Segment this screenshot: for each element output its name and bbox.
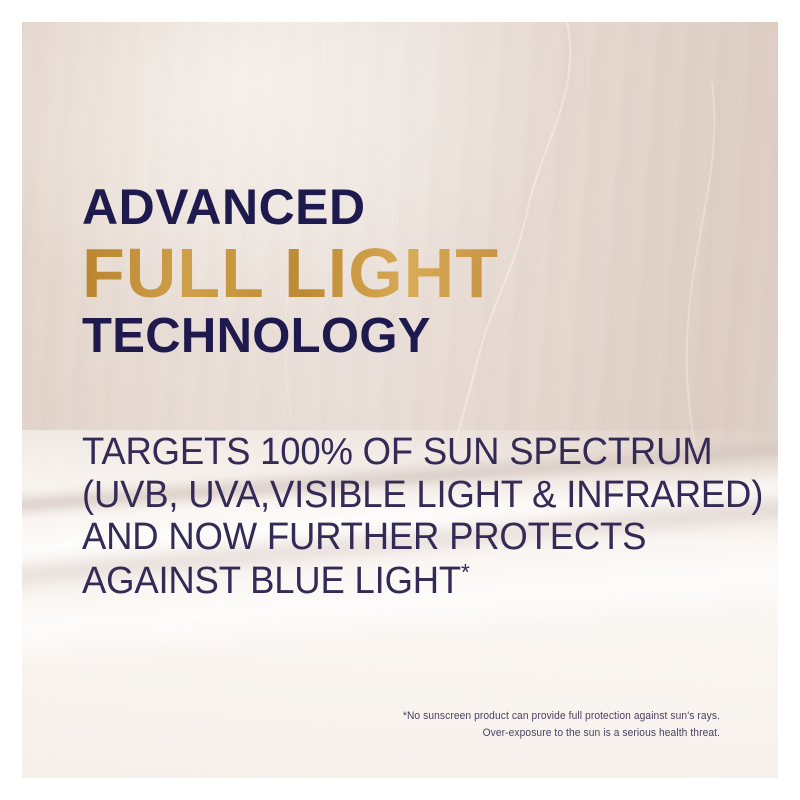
legal-footnote-line-1: *No sunscreen product can provide full p… bbox=[403, 708, 720, 725]
headline-line-technology: TECHNOLOGY bbox=[82, 312, 738, 361]
product-claim-panel: ADVANCED FULL LIGHT TECHNOLOGY TARGETS 1… bbox=[22, 22, 778, 778]
body-copy: TARGETS 100% OF SUN SPECTRUM (UVB, UVA,V… bbox=[82, 361, 712, 602]
legal-footnote: *No sunscreen product can provide full p… bbox=[403, 708, 720, 742]
footnote-marker-asterisk: * bbox=[461, 559, 470, 585]
body-copy-line-1: TARGETS 100% OF SUN SPECTRUM bbox=[82, 431, 712, 474]
headline-line-full-light: FULL LIGHT bbox=[82, 238, 738, 312]
headline-line-advanced: ADVANCED bbox=[82, 182, 738, 238]
legal-footnote-line-2: Over-exposure to the sun is a serious he… bbox=[403, 725, 720, 742]
body-copy-line-4: AGAINST BLUE LIGHT* bbox=[82, 559, 712, 603]
advertisement-canvas: ADVANCED FULL LIGHT TECHNOLOGY TARGETS 1… bbox=[0, 0, 800, 800]
body-copy-line-4-text: AGAINST BLUE LIGHT bbox=[82, 560, 461, 602]
headline: ADVANCED FULL LIGHT TECHNOLOGY bbox=[82, 182, 738, 361]
body-copy-line-3: AND NOW FURTHER PROTECTS bbox=[82, 516, 712, 559]
copy-block: ADVANCED FULL LIGHT TECHNOLOGY TARGETS 1… bbox=[82, 182, 738, 602]
body-copy-line-2: (UVB, UVA,VISIBLE LIGHT & INFRARED) bbox=[82, 474, 712, 517]
